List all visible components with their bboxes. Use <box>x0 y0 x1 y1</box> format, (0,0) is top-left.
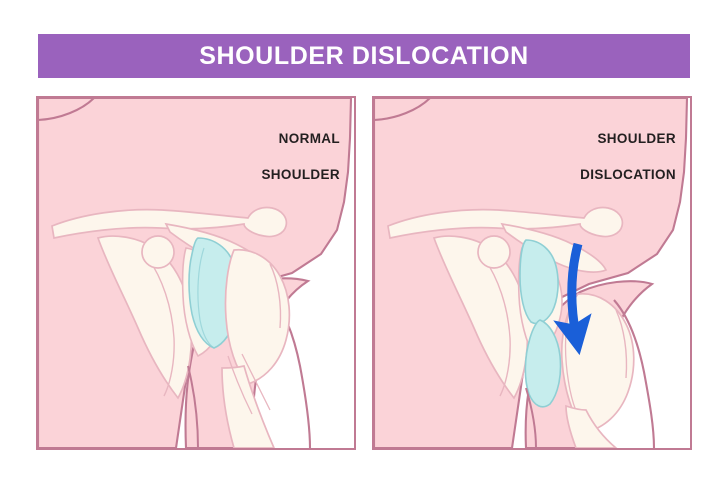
panel-normal-shoulder: NORMAL SHOULDER <box>36 96 356 450</box>
panel-label-shoulder-dislocation: SHOULDER DISLOCATION <box>580 112 676 202</box>
page-title: SHOULDER DISLOCATION <box>199 44 529 69</box>
panel-label-normal-shoulder: NORMAL SHOULDER <box>261 112 340 202</box>
panel-label-line-2: DISLOCATION <box>580 166 676 184</box>
coracoid-process <box>478 236 510 268</box>
panel-label-line-1: SHOULDER <box>580 130 676 148</box>
coracoid-process <box>142 236 174 268</box>
panel-label-line-1: NORMAL <box>261 130 340 148</box>
panel-shoulder-dislocation: SHOULDER DISLOCATION <box>372 96 692 450</box>
panel-label-line-2: SHOULDER <box>261 166 340 184</box>
shoulder-dislocation-infographic: SHOULDER DISLOCATION <box>0 0 728 486</box>
title-banner: SHOULDER DISLOCATION <box>38 34 690 78</box>
